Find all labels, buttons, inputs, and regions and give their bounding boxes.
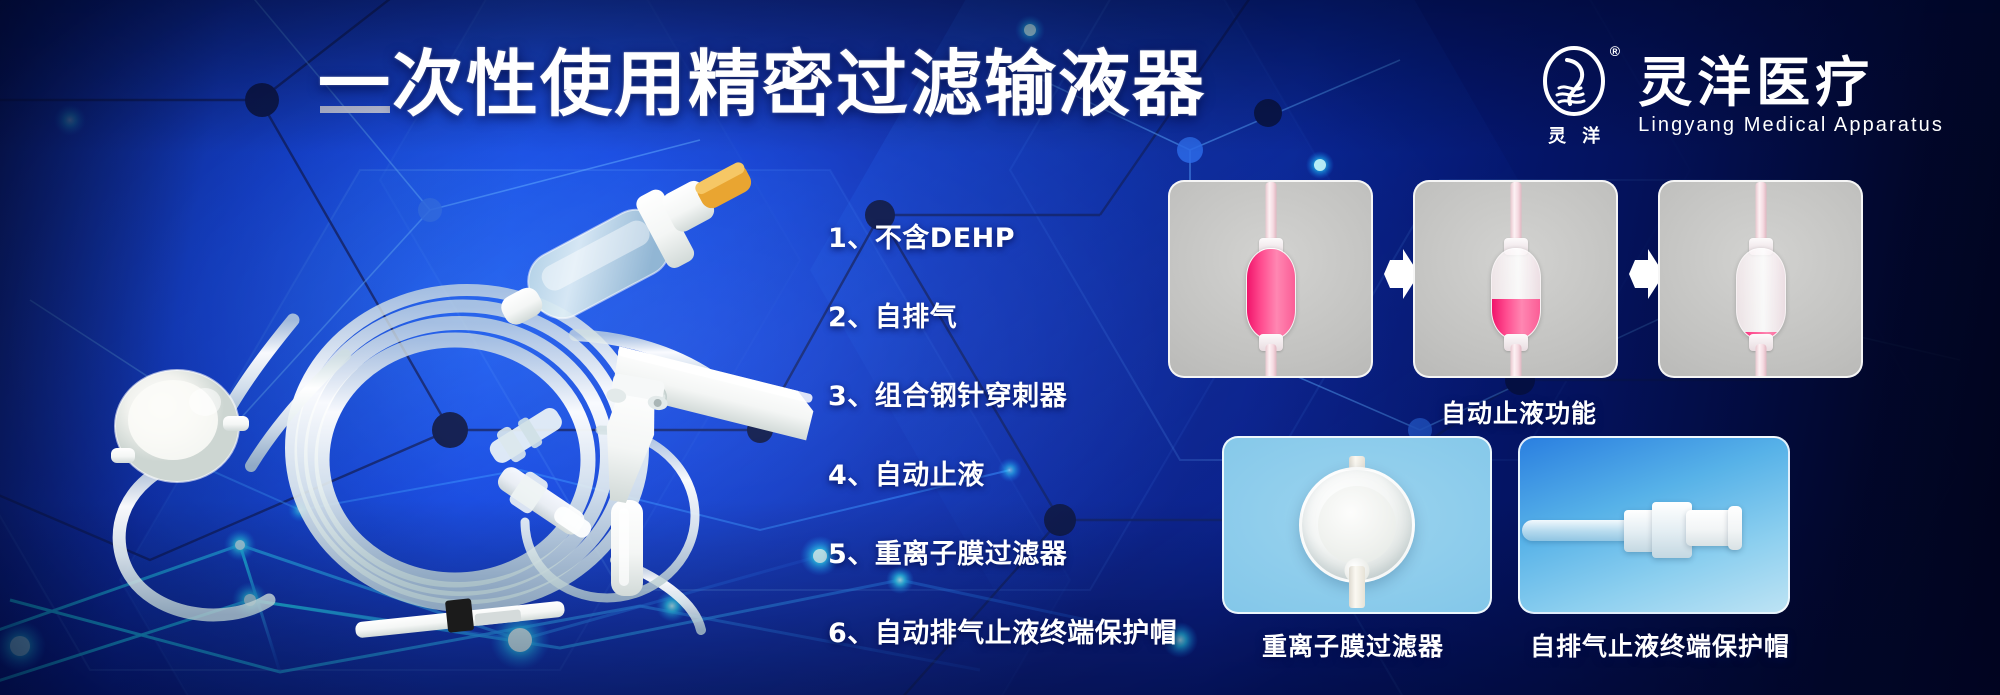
feature-item-5: 5、重离子膜过滤器 xyxy=(828,532,1177,571)
sequence-photo-3 xyxy=(1658,180,1863,378)
logo-name-cn: 灵洋医疗 xyxy=(1638,55,1944,112)
banner-root: 一次性使用精密过滤输液器 ® 灵洋 灵洋医疗 Lingyang Medical … xyxy=(0,0,2000,695)
tube-segment xyxy=(1755,344,1766,378)
logo-emblem-icon: ® xyxy=(1537,44,1611,118)
fluid-fill-2 xyxy=(1492,299,1540,340)
tube-segment xyxy=(1510,344,1521,378)
cap-flange xyxy=(1728,506,1742,550)
product-photo-svg xyxy=(55,130,845,675)
flow-regulator xyxy=(483,400,568,472)
logo-name-en: Lingyang Medical Apparatus xyxy=(1638,114,1944,137)
logo-emblem-svg xyxy=(1537,44,1611,118)
needle-sheath xyxy=(611,500,643,596)
filter-outlet-port xyxy=(1349,566,1365,608)
fluid-fill-1 xyxy=(1247,249,1295,339)
feature-item-6: 6、自动排气止液终端保护帽 xyxy=(828,611,1177,650)
filter-membrane-disc xyxy=(1318,486,1396,564)
detail-photo-filter xyxy=(1222,436,1492,614)
feature-list: 1、不含DEHP 2、自排气 3、组合钢针穿刺器 4、自动止液 5、重离子膜过滤… xyxy=(828,216,1177,650)
feature-item-4: 4、自动止液 xyxy=(828,453,1177,492)
detail-photo-cap xyxy=(1518,436,1790,614)
inline-filter xyxy=(111,370,249,482)
logo-mark: ® 灵洋 xyxy=(1532,44,1616,148)
logo-wordmark: 灵洋医疗 Lingyang Medical Apparatus xyxy=(1638,55,1944,138)
registered-trademark-icon: ® xyxy=(1610,43,1620,59)
sequence-photo-1 xyxy=(1168,180,1373,378)
company-logo: ® 灵洋 灵洋医疗 Lingyang Medical Apparatus xyxy=(1532,44,1944,148)
tube-segment xyxy=(1265,344,1276,378)
detail-caption-cap: 自排气止液终端保护帽 xyxy=(1530,627,1790,663)
feature-item-1: 1、不含DEHP xyxy=(828,216,1177,255)
drip-chamber-2 xyxy=(1491,248,1541,340)
feature-item-2: 2、自排气 xyxy=(828,295,1177,334)
detail-caption-filter: 重离子膜过滤器 xyxy=(1262,627,1444,663)
banner-title: 一次性使用精密过滤输液器 xyxy=(318,48,1206,120)
logo-mark-caption: 灵洋 xyxy=(1532,122,1616,148)
needle-assembly xyxy=(355,598,566,638)
drip-chamber xyxy=(485,147,772,350)
drip-chamber-1 xyxy=(1246,248,1296,340)
sequence-caption: 自动止液功能 xyxy=(1441,394,1597,430)
feature-item-3: 3、组合钢针穿刺器 xyxy=(828,374,1177,413)
sequence-photo-2 xyxy=(1413,180,1618,378)
drip-chamber-3 xyxy=(1736,248,1786,340)
product-photo xyxy=(55,130,845,675)
